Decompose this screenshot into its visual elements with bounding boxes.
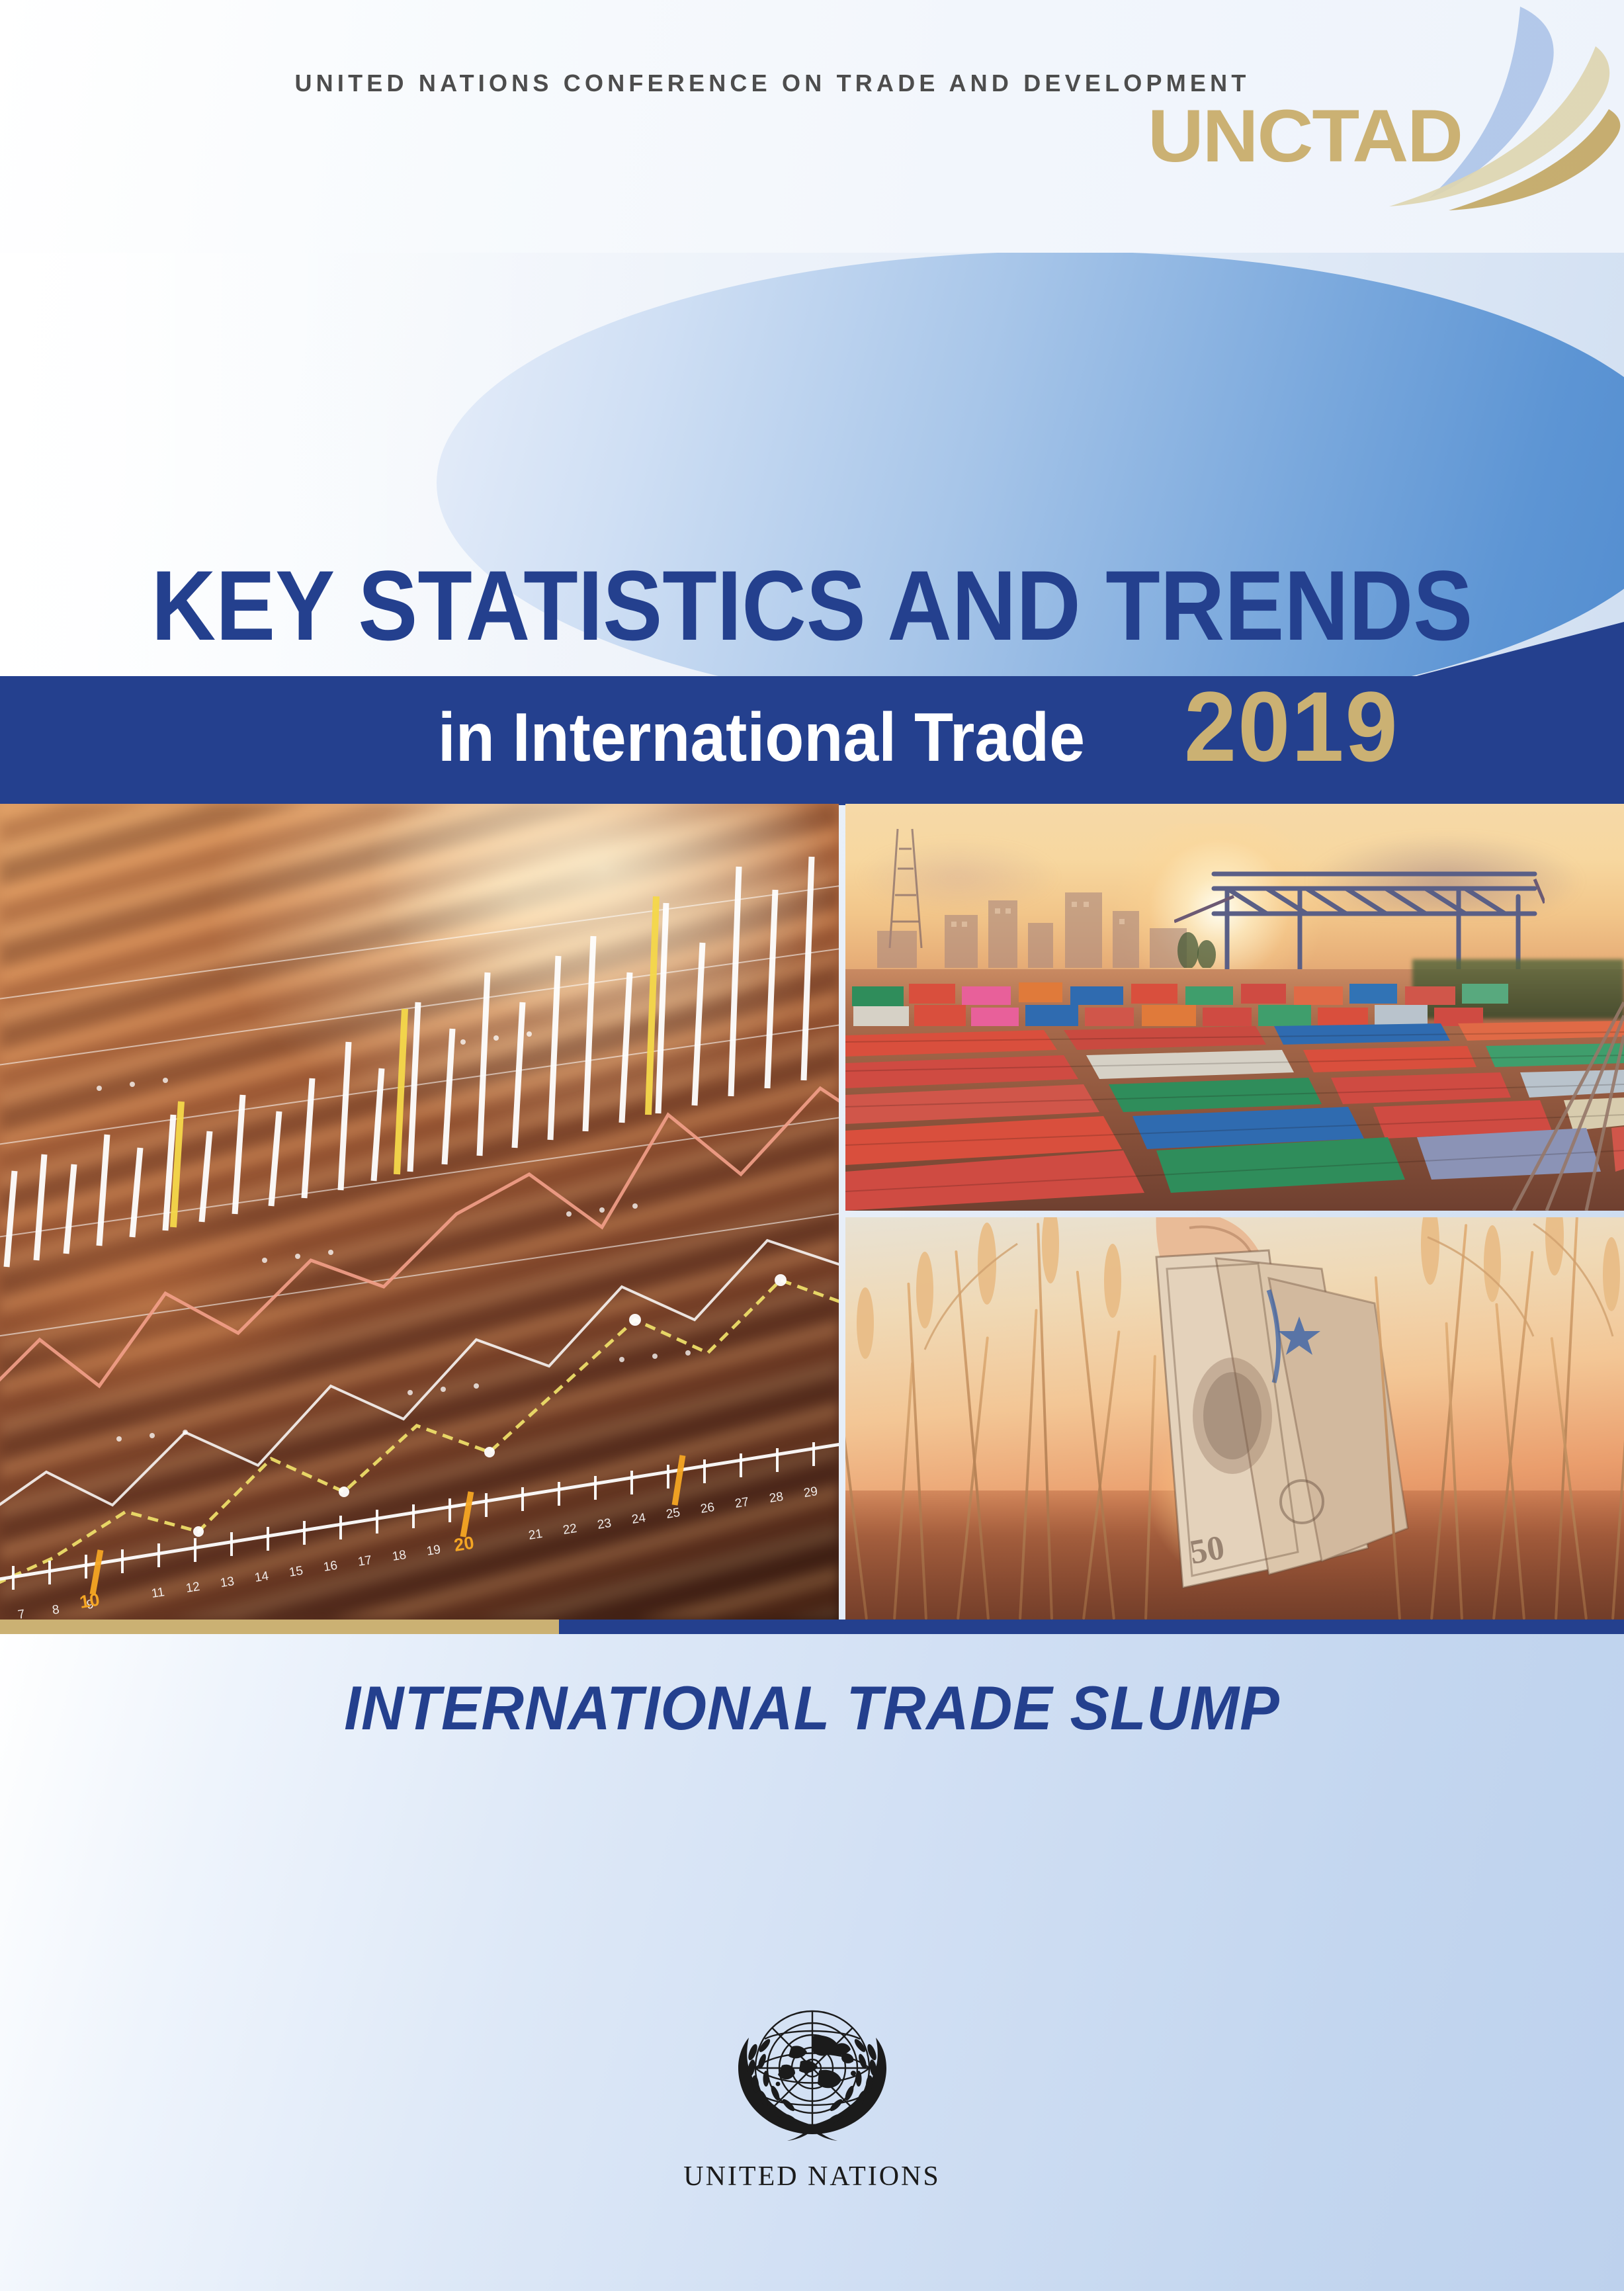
- svg-text:12: 12: [185, 1580, 200, 1596]
- svg-text:7: 7: [17, 1608, 26, 1620]
- svg-text:11: 11: [150, 1585, 165, 1601]
- svg-text:18: 18: [391, 1548, 407, 1564]
- svg-text:10: 10: [78, 1590, 101, 1612]
- svg-text:14: 14: [253, 1569, 270, 1585]
- svg-text:19: 19: [425, 1543, 441, 1559]
- svg-text:27: 27: [734, 1495, 749, 1511]
- page-title: KEY STATISTICS AND TRENDS: [81, 556, 1543, 655]
- svg-text:24: 24: [630, 1511, 647, 1527]
- cover-photo-mosaic: 7 8 9 11 12 13 14 15 16 17 18 19 21 22 2…: [0, 804, 1624, 1620]
- unctad-swoosh-icon: [1349, 0, 1624, 218]
- svg-text:25: 25: [665, 1506, 681, 1522]
- container-stacks: [845, 804, 1624, 1211]
- chart-overlay-graphics: 7 8 9 11 12 13 14 15 16 17 18 19 21 22 2…: [0, 804, 839, 1620]
- svg-text:28: 28: [768, 1490, 784, 1506]
- svg-text:8: 8: [51, 1603, 60, 1618]
- money-wheat-field-photo: 50: [845, 1217, 1624, 1620]
- svg-text:23: 23: [596, 1516, 612, 1532]
- page-subtitle: in International Trade: [76, 700, 1085, 775]
- publisher-name: UNITED NATIONS: [0, 2161, 1624, 2192]
- report-cover-page: UNITED NATIONS CONFERENCE ON TRADE AND D…: [0, 0, 1624, 2291]
- wheat-heads: [845, 1217, 1624, 1620]
- edition-year: 2019: [1184, 672, 1399, 781]
- svg-text:17: 17: [357, 1553, 372, 1569]
- svg-text:16: 16: [322, 1559, 338, 1575]
- svg-text:15: 15: [288, 1564, 304, 1580]
- un-globe-laurel-emblem-icon: [713, 2005, 912, 2157]
- svg-text:21: 21: [527, 1527, 543, 1543]
- cover-theme-title: INTERNATIONAL TRADE SLUMP: [40, 1674, 1583, 1742]
- container-yard-photo: [845, 804, 1624, 1211]
- financial-chart-photo: 7 8 9 11 12 13 14 15 16 17 18 19 21 22 2…: [0, 804, 839, 1620]
- svg-text:26: 26: [699, 1500, 715, 1516]
- svg-text:22: 22: [562, 1522, 577, 1537]
- svg-text:29: 29: [802, 1485, 818, 1500]
- svg-text:13: 13: [219, 1575, 235, 1590]
